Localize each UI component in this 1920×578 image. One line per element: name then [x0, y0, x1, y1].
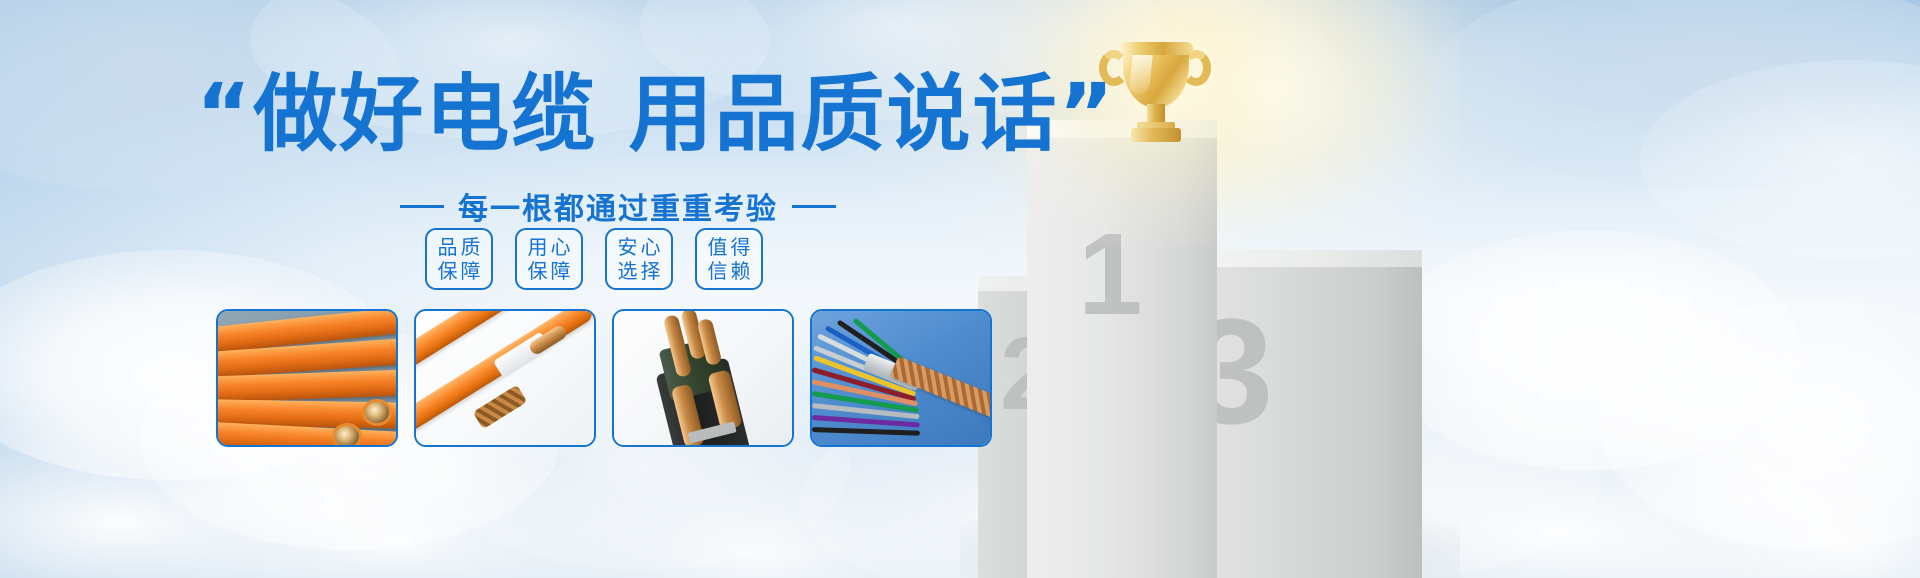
badge-line-2: 信赖	[705, 260, 754, 282]
product-card-multicolour-shielded-wires[interactable]	[810, 309, 992, 447]
subtitle-rule-right	[792, 205, 836, 208]
product-card-orange-round-cable[interactable]	[216, 309, 398, 447]
badge-dedication-guarantee[interactable]: 用心 保障	[515, 228, 583, 290]
headline: “做好电缆 用品质说话”	[196, 72, 1116, 156]
badge-list: 品质 保障 用心 保障 安心 选择 值得 信赖	[425, 228, 763, 290]
badge-line-2: 保障	[435, 260, 484, 282]
product-image-armoured-copper-cable	[614, 311, 792, 445]
badge-quality-guarantee[interactable]: 品质 保障	[425, 228, 493, 290]
badge-trustworthy[interactable]: 值得 信赖	[695, 228, 763, 290]
product-card-orange-jacket-cutaway[interactable]	[414, 309, 596, 447]
product-card-armoured-copper-cable[interactable]	[612, 309, 794, 447]
product-image-orange-round-cable	[218, 311, 396, 445]
badge-line-2: 保障	[525, 260, 574, 282]
badge-line-2: 选择	[615, 260, 664, 282]
copy-block: “做好电缆 用品质说话” 每一根都通过重重考验 品质 保障 用心 保障 安心 选…	[0, 0, 1030, 578]
badge-worry-free-choice[interactable]: 安心 选择	[605, 228, 673, 290]
trophy-base	[1131, 128, 1181, 142]
badge-line-1: 安心	[615, 236, 664, 258]
product-image-orange-jacket-cutaway	[416, 311, 594, 445]
product-image-multicolour-shielded-wires	[812, 311, 990, 445]
badge-line-1: 品质	[435, 236, 484, 258]
subtitle-row: 每一根都通过重重考验	[400, 184, 836, 228]
badge-line-1: 用心	[525, 236, 574, 258]
subtitle: 每一根都通过重重考验	[458, 184, 778, 228]
promo-banner: 3 2 1 “做好电缆 用品质说话” 每一根都通过重重考验 品质	[0, 0, 1920, 578]
product-card-list	[216, 309, 992, 447]
badge-line-1: 值得	[705, 236, 754, 258]
subtitle-rule-left	[400, 205, 444, 208]
trophy-rim	[1119, 42, 1193, 55]
